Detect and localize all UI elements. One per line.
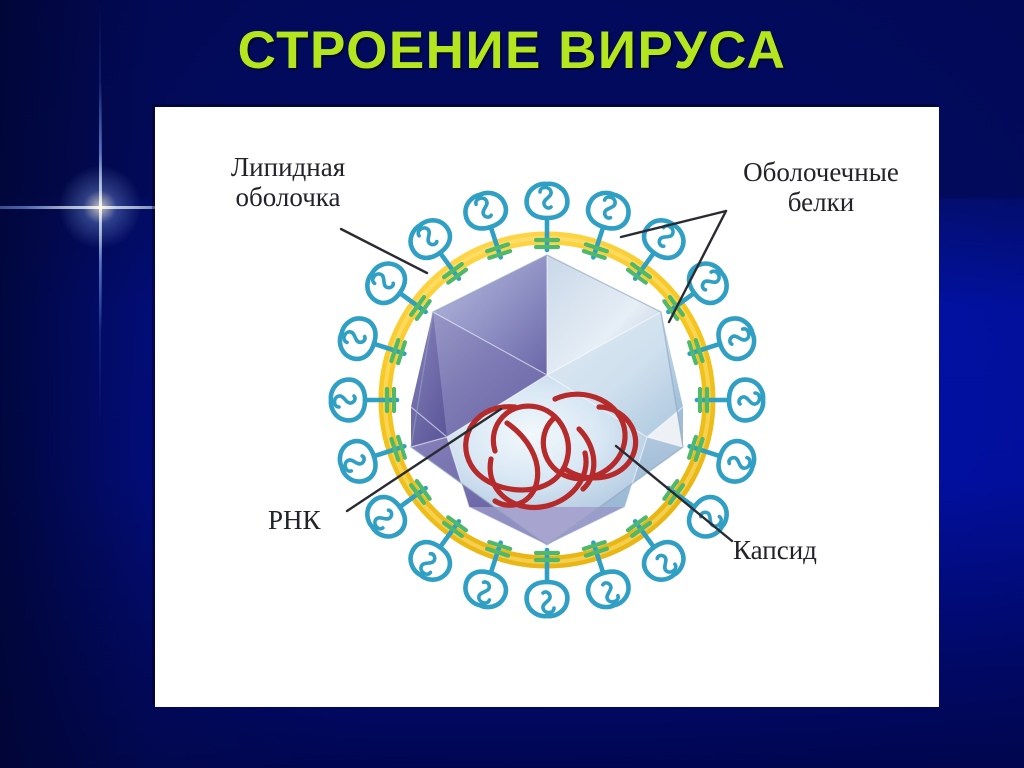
page-title: СТРОЕНИЕ ВИРУСА [0,20,1024,81]
label-lipid-envelope: Липидная оболочка [173,152,403,212]
slide-canvas: СТРОЕНИЕ ВИРУСА [0,0,1024,768]
figure-panel: Липидная оболочка Оболочечные белки РНК … [155,107,939,707]
label-capsid: Капсид [733,535,817,565]
virus-structure-diagram: Липидная оболочка Оболочечные белки РНК … [155,107,939,707]
label-envelope-proteins: Оболочечные белки [703,157,939,217]
label-rna: РНК [268,505,321,535]
